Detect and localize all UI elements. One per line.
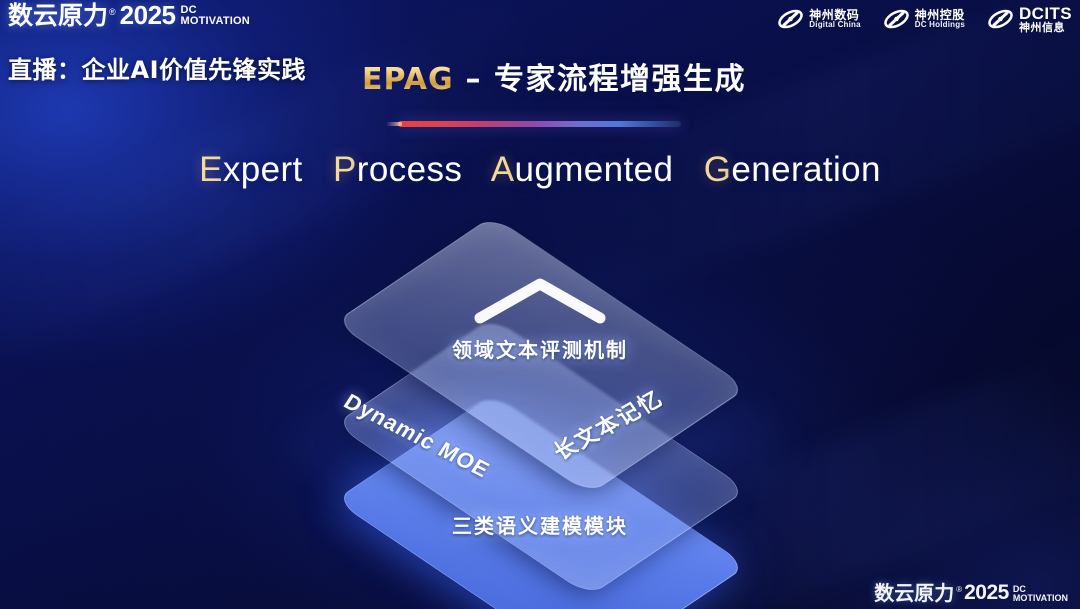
- partner-logo-group: 神州数码 Digital China 神州控股 DC Holdings: [777, 5, 1072, 34]
- watermark-year: 2025: [964, 582, 1009, 603]
- subtitle-word-augmented: Augmented: [491, 150, 674, 189]
- partner-logo-text: 神州控股 DC Holdings: [915, 9, 965, 30]
- swoosh-icon: [777, 7, 804, 31]
- footer-watermark: 数云原力 ® 2025 DC MOTIVATION: [874, 582, 1068, 603]
- partner-name-cn: 神州信息: [1019, 22, 1072, 34]
- watermark-dc: DC MOTIVATION: [1013, 585, 1068, 603]
- swoosh-icon: [883, 7, 910, 31]
- brand-year: 2025: [120, 2, 176, 28]
- title-separator: –: [454, 62, 494, 97]
- subtitle-word-generation: Generation: [704, 150, 881, 189]
- slide-subtitle: Expert Process Augmented Generation: [0, 150, 1080, 190]
- partner-logo-text: 神州数码 Digital China: [809, 9, 861, 30]
- slide-canvas: 数云原力 ® 2025 DC MOTIVATION 直播：企业AI价值先锋实践 …: [0, 0, 1080, 609]
- title-chinese: 专家流程增强生成: [494, 62, 746, 97]
- watermark-dc-line2: MOTIVATION: [1013, 594, 1068, 603]
- partner-logo-text: DCITS 神州信息: [1019, 5, 1072, 34]
- brand-dc-line2: MOTIVATION: [181, 16, 250, 27]
- brand-dc-motivation: DC MOTIVATION: [181, 5, 250, 27]
- partner-logo-dcits: DCITS 神州信息: [987, 5, 1072, 34]
- slide-title: EPAG – 专家流程增强生成: [0, 54, 1080, 98]
- registered-mark-icon: ®: [109, 7, 116, 17]
- partner-name-en: Digital China: [809, 21, 861, 29]
- brand-name-cn: 数云原力: [8, 3, 108, 28]
- partner-logo-dc-holdings: 神州控股 DC Holdings: [883, 7, 965, 31]
- watermark-registered-icon: ®: [956, 585, 962, 594]
- accent-divider: [398, 121, 681, 127]
- subtitle-word-process: Process: [333, 150, 462, 189]
- partner-name-en: DC Holdings: [915, 21, 965, 29]
- partner-logo-digital-china: 神州数码 Digital China: [777, 7, 861, 31]
- partner-name-en: DCITS: [1019, 5, 1072, 22]
- swoosh-icon: [987, 7, 1014, 31]
- layer-stack-diagram: 领域文本评测机制 Dynamic MOE 长文本记忆 三类语义建模模块: [300, 232, 780, 552]
- title-acronym: EPAG: [362, 62, 454, 97]
- watermark-name-cn: 数云原力: [874, 583, 954, 603]
- brand-logo: 数云原力 ® 2025 DC MOTIVATION: [8, 2, 250, 28]
- subtitle-word-expert: Expert: [199, 150, 303, 189]
